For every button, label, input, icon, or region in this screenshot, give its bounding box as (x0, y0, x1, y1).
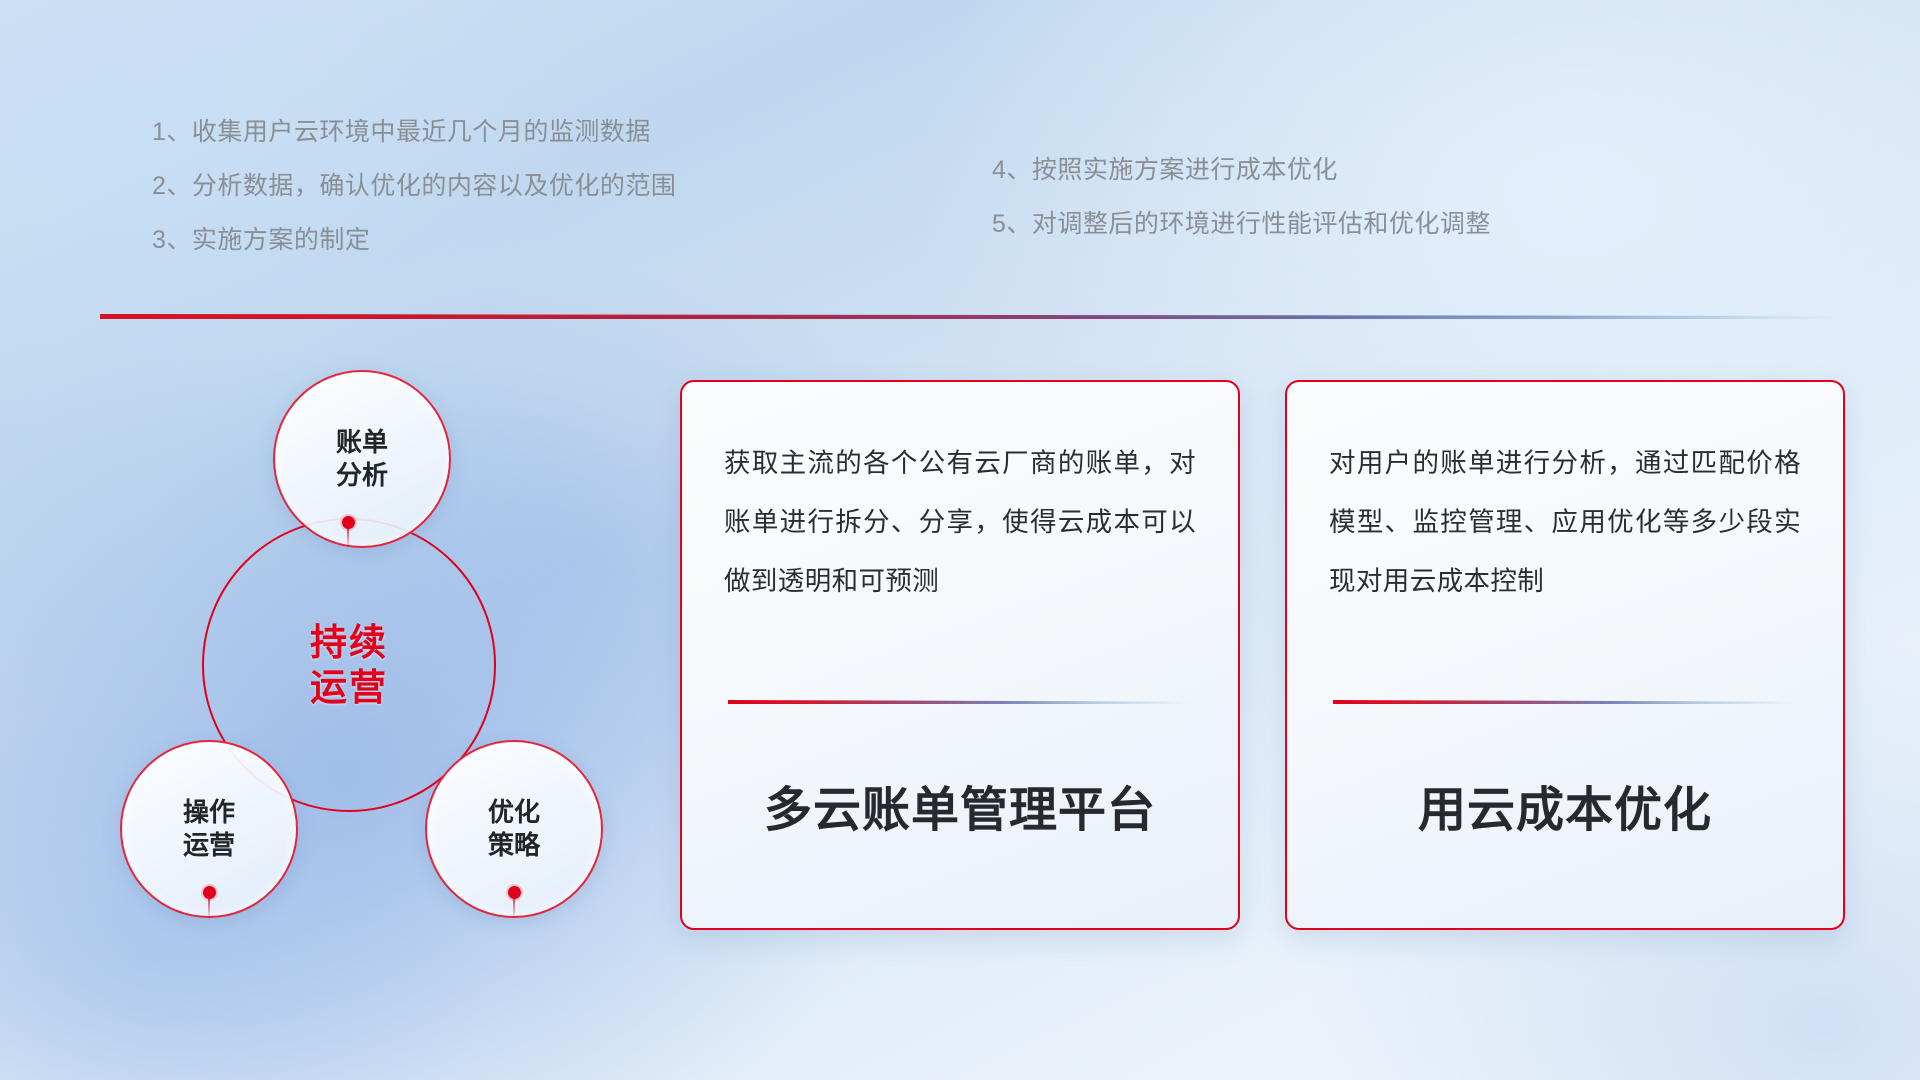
section-divider-rule (100, 314, 1840, 319)
info-card-cloud-cost-optimization[interactable]: 对用户的账单进行分析，通过匹配价格模型、监控管理、应用优化等多少段实现对用云成本… (1285, 380, 1845, 930)
venn-node-dot-top (342, 516, 355, 529)
venn-connector-tail-left (208, 898, 210, 920)
venn-diagram: 持续 运营 账单 分析 操作 运营 优化 策略 (100, 340, 640, 940)
bubble-label-line-2: 分析 (336, 459, 388, 492)
bubble-label-line-1: 操作 (183, 796, 235, 829)
bullet-item: 3、实施方案的制定 (152, 228, 676, 253)
venn-node-dot-right (508, 886, 521, 899)
venn-node-dot-left (203, 886, 216, 899)
venn-bubble-bill-analysis[interactable]: 账单 分析 (273, 370, 451, 548)
bullet-item: 1、收集用户云环境中最近几个月的监测数据 (152, 120, 676, 145)
card-body-text: 获取主流的各个公有云厂商的账单，对账单进行拆分、分享，使得云成本可以做到透明和可… (724, 434, 1196, 684)
bubble-label-line-2: 策略 (488, 829, 540, 862)
card-title: 用云成本优化 (1329, 770, 1801, 840)
venn-center-line-2: 运营 (310, 665, 388, 710)
bullet-item: 2、分析数据，确认优化的内容以及优化的范围 (152, 174, 676, 199)
slide-canvas: 1、收集用户云环境中最近几个月的监测数据 2、分析数据，确认优化的内容以及优化的… (0, 0, 1920, 1080)
bullet-list-left: 1、收集用户云环境中最近几个月的监测数据 2、分析数据，确认优化的内容以及优化的… (152, 120, 676, 282)
bullet-item: 4、按照实施方案进行成本优化 (992, 158, 1491, 183)
bubble-label-line-2: 运营 (183, 829, 235, 862)
card-divider-rule (1333, 700, 1797, 704)
card-body-text: 对用户的账单进行分析，通过匹配价格模型、监控管理、应用优化等多少段实现对用云成本… (1329, 434, 1801, 684)
bullet-list-right: 4、按照实施方案进行成本优化 5、对调整后的环境进行性能评估和优化调整 (992, 158, 1491, 266)
venn-connector-tail-right (513, 898, 515, 920)
bubble-label-line-1: 账单 (336, 426, 388, 459)
venn-center-line-1: 持续 (310, 620, 388, 665)
bullet-item: 5、对调整后的环境进行性能评估和优化调整 (992, 212, 1491, 237)
venn-connector-tail-top (347, 528, 349, 550)
card-divider-rule (728, 700, 1192, 704)
info-card-multicloud-billing[interactable]: 获取主流的各个公有云厂商的账单，对账单进行拆分、分享，使得云成本可以做到透明和可… (680, 380, 1240, 930)
card-title: 多云账单管理平台 (724, 770, 1196, 840)
bubble-label-line-1: 优化 (488, 796, 540, 829)
